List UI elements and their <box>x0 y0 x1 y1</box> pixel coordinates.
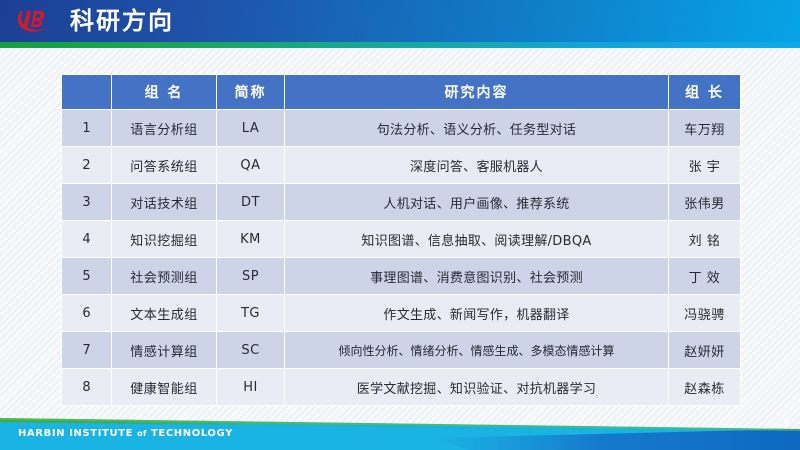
cell-abbreviation: QA <box>217 147 285 184</box>
cell-group-name: 对话技术组 <box>112 184 217 221</box>
cell-abbreviation: HI <box>217 369 285 406</box>
cell-research-content: 事理图谱、消费意图识别、社会预测 <box>285 258 669 295</box>
cell-group-name: 问答系统组 <box>112 147 217 184</box>
institution-name-part2: TECHNOLOGY <box>147 428 233 439</box>
header-accent-stripe <box>0 42 800 48</box>
cell-index: 8 <box>62 369 112 406</box>
cell-abbreviation: KM <box>217 221 285 258</box>
cell-index: 5 <box>62 258 112 295</box>
cell-group-leader: 丁 效 <box>669 258 741 295</box>
column-header-abbreviation: 简称 <box>217 75 285 110</box>
cell-research-content: 医学文献挖掘、知识验证、对抗机器学习 <box>285 369 669 406</box>
table-row: 1 语言分析组 LA 句法分析、语义分析、任务型对话 车万翔 <box>62 110 741 147</box>
institution-name-of: of <box>137 429 147 438</box>
institution-name: HARBIN INSTITUTE of TECHNOLOGY <box>18 428 233 439</box>
table-row: 7 情感计算组 SC 倾向性分析、情绪分析、情感生成、多模态情感计算 赵妍妍 <box>62 332 741 369</box>
table-row: 3 对话技术组 DT 人机对话、用户画像、推荐系统 张伟男 <box>62 184 741 221</box>
cell-abbreviation: LA <box>217 110 285 147</box>
cell-abbreviation: DT <box>217 184 285 221</box>
cell-group-name: 社会预测组 <box>112 258 217 295</box>
cell-index: 1 <box>62 110 112 147</box>
cell-group-name: 情感计算组 <box>112 332 217 369</box>
cell-research-content: 句法分析、语义分析、任务型对话 <box>285 110 669 147</box>
cell-research-content: 深度问答、客服机器人 <box>285 147 669 184</box>
cell-group-name: 健康智能组 <box>112 369 217 406</box>
cell-research-content: 倾向性分析、情绪分析、情感生成、多模态情感计算 <box>285 332 669 369</box>
cell-index: 3 <box>62 184 112 221</box>
cell-research-content: 人机对话、用户画像、推荐系统 <box>285 184 669 221</box>
cell-research-content: 作文生成、新闻写作，机器翻译 <box>285 295 669 332</box>
cell-group-leader: 张伟男 <box>669 184 741 221</box>
institution-name-part1: HARBIN INSTITUTE <box>18 428 137 439</box>
cell-group-leader: 赵妍妍 <box>669 332 741 369</box>
cell-group-name: 文本生成组 <box>112 295 217 332</box>
page-number: 7 <box>782 417 790 430</box>
column-header-research-content: 研究内容 <box>285 75 669 110</box>
table-header-row: 组 名 简称 研究内容 组 长 <box>62 75 741 110</box>
cell-research-content: 知识图谱、信息抽取、阅读理解/DBQA <box>285 221 669 258</box>
column-header-index <box>62 75 112 110</box>
cell-group-leader: 车万翔 <box>669 110 741 147</box>
table-row: 5 社会预测组 SP 事理图谱、消费意图识别、社会预测 丁 效 <box>62 258 741 295</box>
cell-abbreviation: SP <box>217 258 285 295</box>
cell-group-name: 知识挖掘组 <box>112 221 217 258</box>
cell-group-leader: 赵森栋 <box>669 369 741 406</box>
slide-footer: HARBIN INSTITUTE of TECHNOLOGY 7 <box>0 406 800 450</box>
cell-group-leader: 冯骁骋 <box>669 295 741 332</box>
table-row: 2 问答系统组 QA 深度问答、客服机器人 张 宇 <box>62 147 741 184</box>
table-row: 4 知识挖掘组 KM 知识图谱、信息抽取、阅读理解/DBQA 刘 铭 <box>62 221 741 258</box>
table-row: 6 文本生成组 TG 作文生成、新闻写作，机器翻译 冯骁骋 <box>62 295 741 332</box>
table-row: 8 健康智能组 HI 医学文献挖掘、知识验证、对抗机器学习 赵森栋 <box>62 369 741 406</box>
cell-group-leader: 刘 铭 <box>669 221 741 258</box>
page-title: 科研方向 <box>70 9 174 33</box>
slide-header: 科研方向 <box>0 0 800 42</box>
cell-abbreviation: SC <box>217 332 285 369</box>
cell-abbreviation: TG <box>217 295 285 332</box>
hit-logo-icon <box>14 6 54 36</box>
cell-index: 4 <box>62 221 112 258</box>
cell-group-leader: 张 宇 <box>669 147 741 184</box>
cell-index: 6 <box>62 295 112 332</box>
cell-index: 2 <box>62 147 112 184</box>
research-groups-table: 组 名 简称 研究内容 组 长 1 语言分析组 LA 句法分析、语义分析、任务型… <box>61 74 740 406</box>
slide: 科研方向 组 名 简称 研究内容 组 长 <box>0 0 800 450</box>
column-header-group-leader: 组 长 <box>669 75 741 110</box>
cell-group-name: 语言分析组 <box>112 110 217 147</box>
cell-index: 7 <box>62 332 112 369</box>
column-header-group-name: 组 名 <box>112 75 217 110</box>
